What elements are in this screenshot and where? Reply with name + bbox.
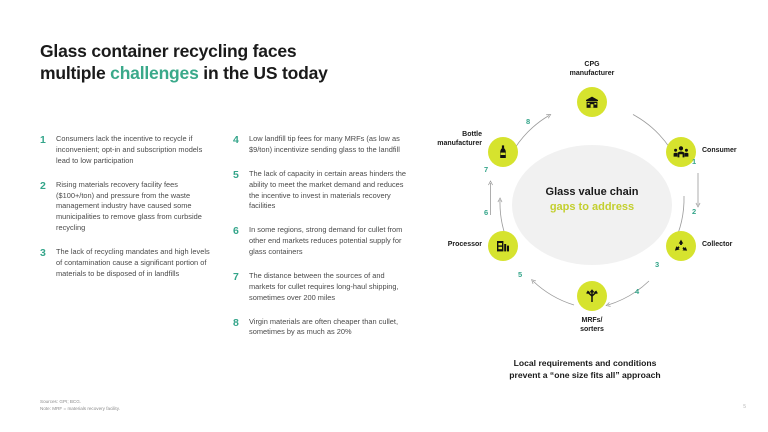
page-title: Glass container recycling faces multiple… <box>40 40 440 85</box>
page-title-line-2: multiple challenges in the US today <box>40 62 440 84</box>
list-item-number: 1 <box>40 134 56 167</box>
glass-value-chain-diagram: Glass value chain gaps to address CPG ma… <box>430 55 750 355</box>
list-item: 7 The distance between the sources of an… <box>233 271 408 304</box>
list-item-text: In some regions, strong demand for culle… <box>249 225 408 258</box>
list-item-number: 8 <box>233 317 249 339</box>
bottle-icon <box>495 144 511 160</box>
center-label-line-1: Glass value chain <box>502 185 682 200</box>
arrow-number-2: 2 <box>692 207 696 216</box>
node-label-collector: Collector <box>702 241 768 250</box>
arrow-number-6: 6 <box>484 208 488 217</box>
node-label-cpg-manufacturer: CPG manufacturer <box>542 61 642 79</box>
list-item-text: Low landfill tip fees for many MRFs (as … <box>249 134 408 156</box>
sorting-arrows-icon <box>584 288 600 304</box>
list-item-number: 6 <box>233 225 249 258</box>
node-mrfs-sorters[interactable] <box>577 281 607 311</box>
list-item-number: 3 <box>40 247 56 280</box>
arrow-number-7: 7 <box>484 165 488 174</box>
node-label-mrfs-sorters: MRFs/ sorters <box>542 317 642 335</box>
center-label-line-2: gaps to address <box>502 200 682 215</box>
node-processor[interactable] <box>488 231 518 261</box>
list-item-text: The lack of recycling mandates and high … <box>56 247 215 280</box>
node-cpg-manufacturer[interactable] <box>577 87 607 117</box>
list-item: 3 The lack of recycling mandates and hig… <box>40 247 215 280</box>
list-item-number: 2 <box>40 180 56 234</box>
node-bottle-manufacturer[interactable] <box>488 137 518 167</box>
bullet-column-right: 4 Low landfill tip fees for many MRFs (a… <box>233 134 408 351</box>
list-item-text: Rising materials recovery facility fees … <box>56 180 215 234</box>
arrow-number-8: 8 <box>526 117 530 126</box>
list-item: 6 In some regions, strong demand for cul… <box>233 225 408 258</box>
bullet-column-left: 1 Consumers lack the incentive to recycl… <box>40 134 215 293</box>
people-icon <box>673 144 689 160</box>
arrow-number-4: 4 <box>635 287 639 296</box>
node-label-processor: Processor <box>412 241 482 250</box>
list-item-text: Consumers lack the incentive to recycle … <box>56 134 215 167</box>
diagram-caption-line-2: prevent a “one size fits all” approach <box>460 369 710 381</box>
footnote-note: Note: MRF = materials recovery facility. <box>40 405 120 412</box>
processing-plant-icon <box>495 238 511 254</box>
node-collector[interactable] <box>666 231 696 261</box>
list-item-number: 5 <box>233 169 249 213</box>
list-item-number: 4 <box>233 134 249 156</box>
page-title-highlight: challenges <box>110 63 198 83</box>
arrow-number-5: 5 <box>518 270 522 279</box>
footnote-sources: Sources: GPI; BCG. <box>40 398 120 405</box>
list-item: 1 Consumers lack the incentive to recycl… <box>40 134 215 167</box>
recycle-icon <box>673 238 689 254</box>
arrow-number-1: 1 <box>692 157 696 166</box>
list-item: 4 Low landfill tip fees for many MRFs (a… <box>233 134 408 156</box>
center-label: Glass value chain gaps to address <box>502 185 682 215</box>
list-item: 5 The lack of capacity in certain areas … <box>233 169 408 213</box>
footnote: Sources: GPI; BCG. Note: MRF = materials… <box>40 398 120 412</box>
list-item: 8 Virgin materials are often cheaper tha… <box>233 317 408 339</box>
page-title-line-2-pre: multiple <box>40 63 110 83</box>
page-number: 5 <box>743 404 746 410</box>
list-item-number: 7 <box>233 271 249 304</box>
page-title-line-1: Glass container recycling faces <box>40 40 440 62</box>
arrow-number-3: 3 <box>655 260 659 269</box>
factory-icon <box>584 94 600 110</box>
list-item-text: The distance between the sources of and … <box>249 271 408 304</box>
list-item-text: Virgin materials are often cheaper than … <box>249 317 408 339</box>
node-label-consumer: Consumer <box>702 147 768 156</box>
diagram-caption: Local requirements and conditions preven… <box>460 357 710 382</box>
page-title-line-2-post: in the US today <box>199 63 328 83</box>
node-label-bottle-manufacturer: Bottle manufacturer <box>398 131 482 149</box>
diagram-caption-line-1: Local requirements and conditions <box>460 357 710 369</box>
list-item-text: The lack of capacity in certain areas hi… <box>249 169 408 213</box>
list-item: 2 Rising materials recovery facility fee… <box>40 180 215 234</box>
